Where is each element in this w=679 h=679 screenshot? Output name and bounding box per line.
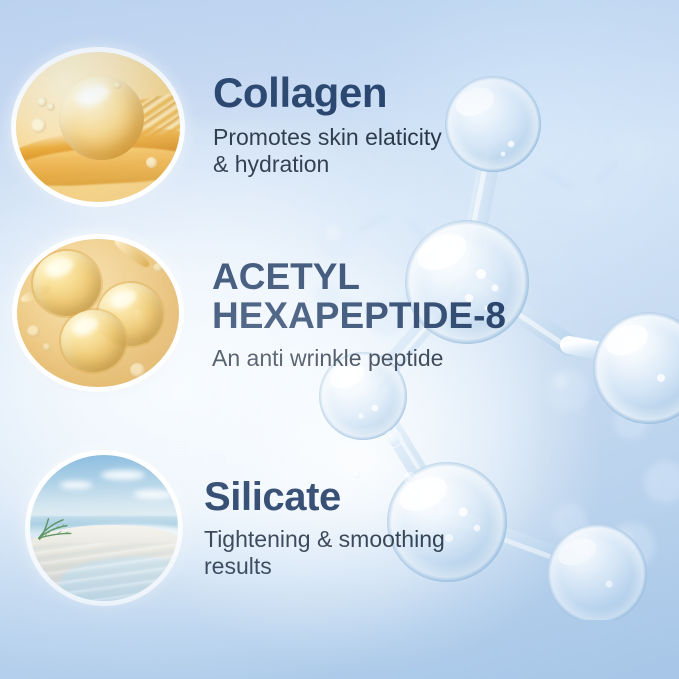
- background-vignette: [0, 0, 679, 679]
- ingredient-infographic-poster: Collagen Promotes skin elaticity & hydra…: [0, 0, 679, 679]
